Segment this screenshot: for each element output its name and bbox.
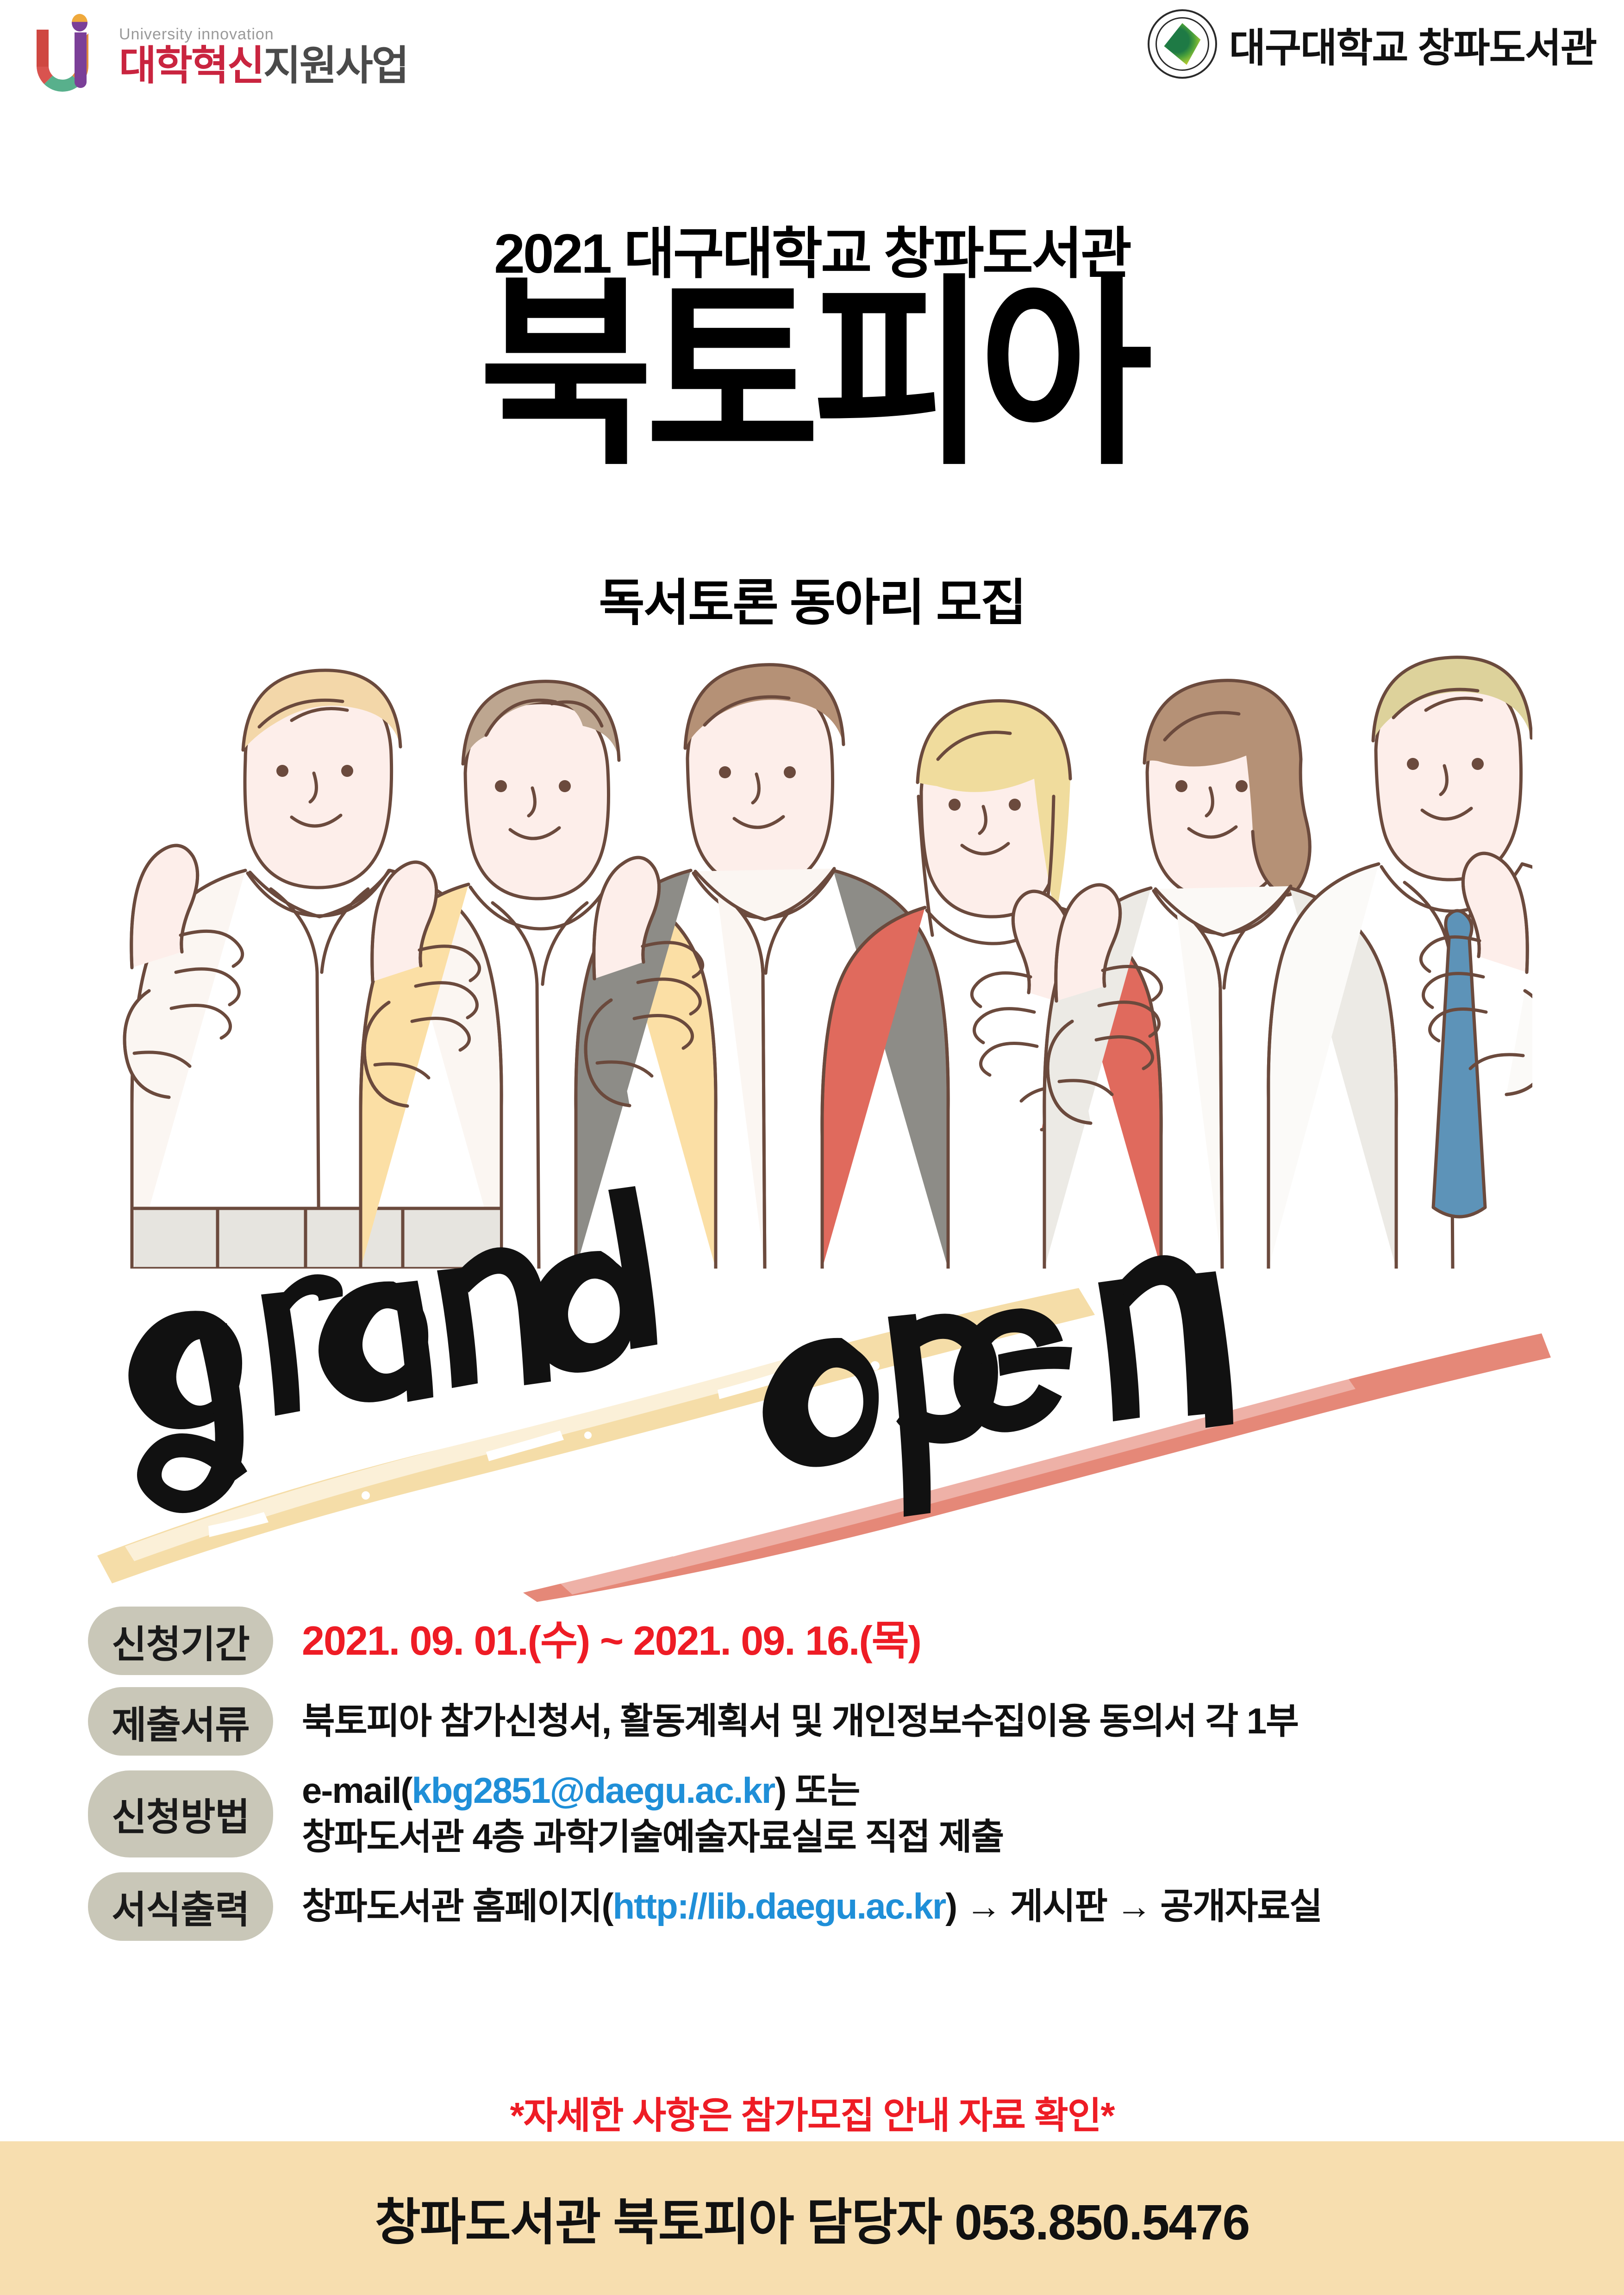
university-innovation-logo: University innovation 대학혁신지원사업 — [35, 13, 408, 99]
value-application-method: e-mail(kbg2851@daegu.ac.kr) 또는 창파도서관 4층 … — [302, 1768, 1003, 1860]
label-application-period: 신청기간 — [88, 1607, 273, 1675]
logo-wordmark: 대학혁신지원사업 — [119, 45, 408, 86]
info-row-form-download: 서식출력 창파도서관 홈페이지(http://lib.daegu.ac.kr) … — [0, 1872, 1624, 1941]
detail-note: *자세한 사항은 참가모집 안내 자료 확인* — [0, 2086, 1624, 2139]
homepage-prefix: 창파도서관 홈페이지( — [302, 1886, 613, 1926]
grand-open-brush-artwork — [69, 1176, 1574, 1602]
logo-wordmark-gray: 지원사업 — [263, 43, 408, 88]
people-thumbs-up-illustration — [106, 611, 1532, 1269]
poster-header: University innovation 대학혁신지원사업 대구대학교 창파도… — [0, 0, 1624, 139]
label-required-documents: 제출서류 — [88, 1687, 273, 1756]
email-link[interactable]: kbg2851@daegu.ac.kr — [412, 1770, 775, 1811]
info-row-application-period: 신청기간 2021. 09. 01.(수) ~ 2021. 09. 16.(목) — [0, 1607, 1624, 1675]
value-form-download: 창파도서관 홈페이지(http://lib.daegu.ac.kr) → 게시판… — [302, 1883, 1322, 1930]
homepage-suffix: ) → 게시판 → 공개자료실 — [945, 1886, 1322, 1926]
daegu-university-library-logo: 대구대학교 창파도서관 — [1148, 9, 1596, 79]
logo-eyebrow: University innovation — [119, 25, 408, 44]
info-row-application-method: 신청방법 e-mail(kbg2851@daegu.ac.kr) 또는 창파도서… — [0, 1768, 1624, 1860]
application-method-line-1: e-mail(kbg2851@daegu.ac.kr) 또는 — [302, 1768, 1003, 1814]
value-application-period: 2021. 09. 01.(수) ~ 2021. 09. 16.(목) — [302, 1615, 921, 1667]
footer-contact-bar: 창파도서관 북토피아 담당자 053.850.5476 — [0, 2141, 1624, 2295]
university-seal-icon — [1148, 9, 1217, 79]
value-required-documents: 북토피아 참가신청서, 활동계획서 및 개인정보수집이용 동의서 각 1부 — [302, 1698, 1298, 1745]
label-form-download: 서식출력 — [88, 1872, 273, 1941]
email-prefix: e-mail( — [302, 1770, 412, 1811]
homepage-link[interactable]: http://lib.daegu.ac.kr — [613, 1886, 946, 1926]
info-table: 신청기간 2021. 09. 01.(수) ~ 2021. 09. 16.(목)… — [0, 1607, 1624, 1953]
application-method-line-2: 창파도서관 4층 과학기술예술자료실로 직접 제출 — [302, 1814, 1003, 1860]
page-title: 북토피아 — [57, 273, 1567, 477]
salmon-brush-stroke — [523, 1333, 1551, 1602]
label-application-method: 신청방법 — [88, 1770, 273, 1857]
email-suffix: ) 또는 — [775, 1770, 859, 1811]
library-name: 대구대학교 창파도서관 — [1229, 15, 1596, 73]
logo-wordmark-red: 대학혁신 — [119, 43, 263, 88]
uj-logo-mark-icon — [35, 13, 109, 99]
info-row-required-documents: 제출서류 북토피아 참가신청서, 활동계획서 및 개인정보수집이용 동의서 각 … — [0, 1687, 1624, 1756]
footer-contact-text: 창파도서관 북토피아 담당자 053.850.5476 — [375, 2182, 1249, 2254]
